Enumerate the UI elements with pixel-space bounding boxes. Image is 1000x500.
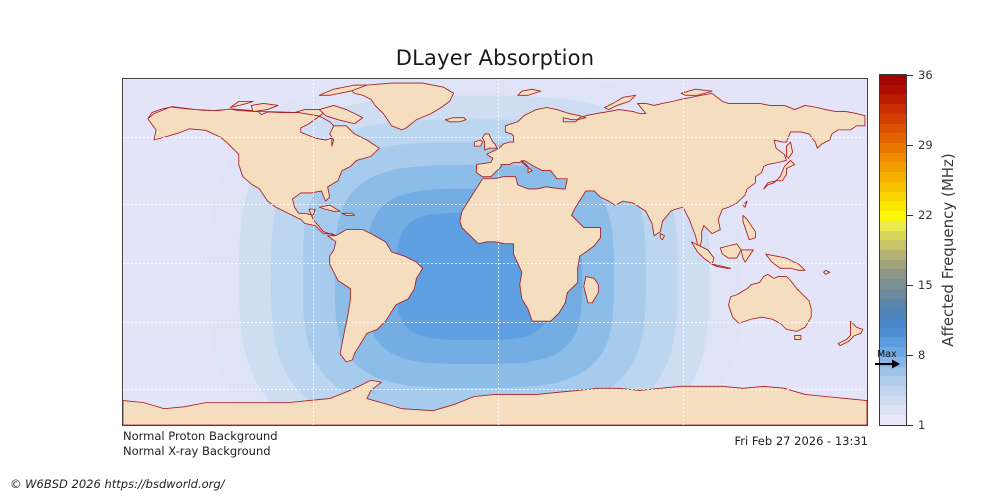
colorbar-band xyxy=(880,269,906,279)
colorbar-band xyxy=(880,221,906,231)
map-canvas xyxy=(123,79,867,425)
colorbar-band xyxy=(880,240,906,250)
colorbar-axis-label: Affected Frequency (MHz) xyxy=(936,74,1000,426)
colorbar-band xyxy=(880,299,906,309)
arrow-right-icon xyxy=(875,359,901,369)
landmass-africa-eurasia xyxy=(460,93,865,321)
colorbar-band xyxy=(880,124,906,134)
colorbar-tick-label: 8 xyxy=(918,348,925,362)
colorbar-band xyxy=(880,376,906,386)
colorbar-band xyxy=(880,405,906,415)
colorbar-tick-label: 22 xyxy=(918,208,933,222)
colorbar-band xyxy=(880,318,906,328)
colorbar-band xyxy=(880,75,906,85)
colorbar-tick xyxy=(907,425,913,426)
landmass-sumatra xyxy=(691,242,714,264)
landmass-cuba xyxy=(319,205,340,211)
proton-background-note: Normal Proton Background xyxy=(123,429,278,444)
copyright-label: © W6BSD 2026 https://bsdworld.org/ xyxy=(10,477,225,491)
landmass-sakhalin xyxy=(786,142,792,158)
landmass-greenland xyxy=(350,83,453,130)
colorbar-tick-label: 29 xyxy=(918,138,933,152)
landmass-iceland xyxy=(445,118,466,122)
landmass-australia xyxy=(729,274,812,331)
landmass-victoria-is xyxy=(251,103,278,111)
colorbar-band xyxy=(880,201,906,211)
colorbar-tick xyxy=(907,215,913,216)
colorbar-band xyxy=(880,153,906,163)
colorbar-band xyxy=(880,396,906,406)
colorbar-tick xyxy=(907,355,913,356)
landmass-java xyxy=(712,264,731,268)
colorbar-band xyxy=(880,308,906,318)
colorbar-band xyxy=(880,289,906,299)
landmass-north-america xyxy=(148,107,379,236)
colorbar-tick xyxy=(907,285,913,286)
colorbar-tick xyxy=(907,145,913,146)
colorbar-band xyxy=(880,328,906,338)
landmass-novaya-zemlya xyxy=(605,95,636,109)
colorbar[interactable] xyxy=(879,74,907,426)
colorbar-tick xyxy=(907,75,913,76)
colorbar-band xyxy=(880,94,906,104)
colorbar-band xyxy=(880,182,906,192)
colorbar-band xyxy=(880,162,906,172)
colorbar-band xyxy=(880,192,906,202)
colorbar-band xyxy=(880,415,906,425)
colorbar-tick-label: 36 xyxy=(918,68,933,82)
landmass-sulawesi xyxy=(741,250,753,262)
background-notes: Normal Proton Background Normal X-ray Ba… xyxy=(123,429,278,459)
landmass-ireland xyxy=(474,140,482,146)
landmass-baffin xyxy=(319,105,362,123)
landmass-taiwan xyxy=(743,201,747,207)
colorbar-band xyxy=(880,337,906,347)
colorbar-band xyxy=(880,386,906,396)
landmass-banks xyxy=(230,101,253,107)
map-plot-area xyxy=(122,78,868,426)
landmass-new-guinea xyxy=(766,254,805,270)
colorbar-tick-label: 1 xyxy=(918,418,925,432)
colorbar-band xyxy=(880,279,906,289)
xray-background-note: Normal X-ray Background xyxy=(123,444,278,459)
landmass-britain xyxy=(483,134,498,150)
landmass-luzon-sm xyxy=(824,270,830,274)
colorbar-band xyxy=(880,260,906,270)
colorbar-band xyxy=(880,114,906,124)
colorbar-band xyxy=(880,104,906,114)
landmass-philippines xyxy=(743,215,755,239)
colorbar-band xyxy=(880,250,906,260)
colorbar-band xyxy=(880,143,906,153)
colorbar-band xyxy=(880,211,906,221)
timestamp-label: Fri Feb 27 2026 - 13:31 xyxy=(600,434,868,448)
colorbar-band xyxy=(880,133,906,143)
landmass-svalbard xyxy=(518,89,541,95)
landmass-madagascar xyxy=(584,276,599,302)
landmass-new-zealand xyxy=(838,321,863,345)
colorbar-band xyxy=(880,85,906,95)
page-title: DLayer Absorption xyxy=(0,46,990,70)
world-coastlines xyxy=(123,79,867,425)
landmass-south-america xyxy=(328,230,423,362)
landmass-antarctica xyxy=(123,380,867,425)
landmass-tasmania xyxy=(795,335,801,339)
colorbar-band xyxy=(880,231,906,241)
colorbar-tick-label: 15 xyxy=(918,278,933,292)
landmass-borneo xyxy=(720,244,741,258)
max-frequency-marker: Max xyxy=(855,350,903,370)
landmass-hispaniola xyxy=(342,213,354,215)
figure-root: DLayer Absorption xyxy=(0,0,1000,500)
colorbar-band xyxy=(880,172,906,182)
landmass-sri-lanka xyxy=(660,234,664,240)
